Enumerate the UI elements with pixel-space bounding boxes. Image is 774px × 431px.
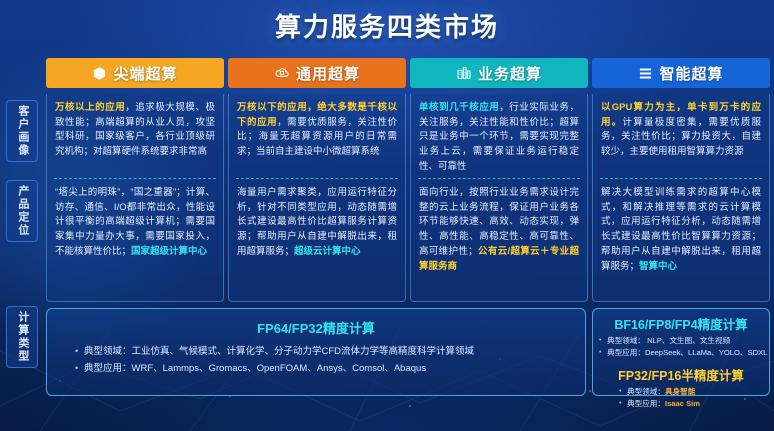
- compute-type-right-panel: BF16/FP8/FP4精度计算 典型领域： NLP、文生图、文生视频 典型应用…: [592, 308, 770, 396]
- column-header-label: 尖端超算: [113, 63, 177, 84]
- cell-customer-zhineng: 以GPU算力为主，单卡到万卡的应用。计算量极度密集，需要优质服务，关注性价比；算…: [593, 94, 769, 178]
- column-header-label: 通用超算: [296, 63, 360, 84]
- sidebar-item-label: 产品定位: [15, 185, 29, 237]
- bullet-label: 典型应用：: [627, 399, 665, 408]
- column-body-yewu: 单核到几千核应用，行业实际业务，关注服务，关注性能和性价比；超算只是业务中一个环…: [410, 94, 588, 302]
- cell-divider: [600, 178, 762, 179]
- cell-highlight: 国家超级计算中心: [131, 246, 207, 257]
- column-header-tongyong[interactable]: 通用超算: [228, 58, 406, 88]
- bullet-label: 典型领域：: [627, 387, 665, 396]
- cell-text: 解决大模型训练需求的超算中心模式，和解决推理等需求的云计算模式，应用运行特征分析…: [601, 187, 761, 272]
- cell-divider: [54, 178, 216, 179]
- bullet-value: Isaac Sim: [665, 399, 700, 408]
- compute-left-title: FP64/FP32精度计算: [47, 318, 585, 337]
- cube-icon: [92, 66, 107, 81]
- column-body-gaoduan: 万核以上的应用，追求极大规模、极致性能；高端超算的从业人员，攻坚型科研，国家级客…: [46, 94, 224, 302]
- column-tongyong: 通用超算 万核以下的应用，绝大多数是千核以下的应用，需要优质服务，关注性价比；海…: [228, 58, 406, 302]
- compute-type-left-panel: FP64/FP32精度计算 典型领域：工业仿真、气候模式、计算化学、分子动力学C…: [46, 308, 586, 396]
- column-body-tongyong: 万核以下的应用，绝大多数是千核以下的应用，需要优质服务，关注性价比；海量无超算资…: [228, 94, 406, 302]
- cell-product-gaoduan: “塔尖上的明珠”，“国之重器”；计算、访存、通信、I/O都非常出众，性能设计很平…: [47, 179, 223, 264]
- compute-right-top-title: BF16/FP8/FP4精度计算: [593, 314, 769, 333]
- compute-left-bullets: 典型领域：工业仿真、气候模式、计算化学、分子动力学CFD流体力学等高精度科学计算…: [73, 344, 585, 377]
- cell-highlight: 智算中心: [639, 261, 677, 272]
- column-header-zhineng[interactable]: 智能超算: [592, 58, 770, 88]
- sidebar-item-product[interactable]: 产品定位: [6, 180, 38, 242]
- compute-right-section-bottom: FP32/FP16半精度计算 典型领域：具身智能 典型应用：Isaac Sim: [593, 365, 769, 410]
- compute-right-bottom-bullets: 典型领域：具身智能 典型应用：Isaac Sim: [619, 386, 769, 410]
- cell-highlight: 万核以上的应用: [55, 102, 125, 113]
- sidebar-item-customer[interactable]: 客户画像: [6, 100, 38, 162]
- cell-divider: [236, 178, 398, 179]
- sidebar-item-compute[interactable]: 计算类型: [6, 306, 38, 368]
- sidebar-item-label: 计算类型: [15, 311, 29, 363]
- cell-customer-yewu: 单核到几千核应用，行业实际业务，关注服务，关注性能和性价比；超算只是业务中一个环…: [411, 94, 587, 178]
- list-item: 典型应用：WRF、Lammps、Gromacs、OpenFOAM、Ansys、C…: [73, 361, 585, 378]
- cell-highlight: 超级云计算中心: [294, 246, 361, 257]
- list-item: 典型应用：DeepSeek、LLaMa、YOLO、SDXL: [599, 347, 769, 359]
- cell-product-tongyong: 海量用户需求聚类，应用运行特征分析，针对不同类型应用，动态随需增长式建设最高性价…: [229, 179, 405, 264]
- cell-customer-gaoduan: 万核以上的应用，追求极大规模、极致性能；高端超算的从业人员，攻坚型科研，国家级客…: [47, 94, 223, 178]
- list-item: 典型应用：Isaac Sim: [619, 398, 769, 410]
- column-gaoduan: 尖端超算 万核以上的应用，追求极大规模、极致性能；高端超算的从业人员，攻坚型科研…: [46, 58, 224, 302]
- compute-right-top-bullets: 典型领域： NLP、文生图、文生视频 典型应用：DeepSeek、LLaMa、Y…: [599, 335, 769, 359]
- column-header-gaoduan[interactable]: 尖端超算: [46, 58, 224, 88]
- column-header-yewu[interactable]: 业务超算: [410, 58, 588, 88]
- bullet-value: 具身智能: [665, 387, 695, 396]
- matrix-grid: 客户画像 产品定位 计算类型 尖端超算 万核以上的应用，追求极大规模、极致性能；…: [0, 58, 774, 398]
- cloud-home-icon: [274, 65, 290, 81]
- sidebar-item-label: 客户画像: [15, 105, 29, 157]
- cell-product-yewu: 面向行业，按照行业业务需求设计完整的云上业务流程，保证用户业务各环节能够快速、高…: [411, 179, 587, 278]
- list-item: 典型领域：具身智能: [619, 386, 769, 398]
- cell-customer-tongyong: 万核以下的应用，绝大多数是千核以下的应用，需要优质服务，关注性价比；海量无超算资…: [229, 94, 405, 178]
- server-grid-icon: [638, 66, 653, 81]
- column-body-zhineng: 以GPU算力为主，单卡到万卡的应用。计算量极度密集，需要优质服务，关注性价比；算…: [592, 94, 770, 302]
- column-yewu: 业务超算 单核到几千核应用，行业实际业务，关注服务，关注性能和性价比；超算只是业…: [410, 58, 588, 302]
- buildings-icon: [456, 65, 472, 81]
- compute-right-section-top: BF16/FP8/FP4精度计算 典型领域： NLP、文生图、文生视频 典型应用…: [593, 314, 769, 359]
- cell-divider: [418, 178, 580, 179]
- list-item: 典型领域：工业仿真、气候模式、计算化学、分子动力学CFD流体力学等高精度科学计算…: [73, 344, 585, 361]
- cell-text: 计算量极度密集，需要优质服务，关注性价比；算力投资大，自建较少，主要使用租用智算…: [601, 117, 761, 157]
- column-header-label: 智能超算: [659, 63, 723, 84]
- list-item: 典型领域： NLP、文生图、文生视频: [599, 335, 769, 347]
- cell-highlight: 单核到几千核应用: [419, 102, 499, 113]
- column-header-label: 业务超算: [478, 63, 542, 84]
- page-title: 算力服务四类市场: [0, 7, 774, 44]
- compute-right-bottom-title: FP32/FP16半精度计算: [593, 365, 769, 384]
- column-zhineng: 智能超算 以GPU算力为主，单卡到万卡的应用。计算量极度密集，需要优质服务，关注…: [592, 58, 770, 302]
- cell-product-zhineng: 解决大模型训练需求的超算中心模式，和解决推理等需求的云计算模式，应用运行特征分析…: [593, 179, 769, 278]
